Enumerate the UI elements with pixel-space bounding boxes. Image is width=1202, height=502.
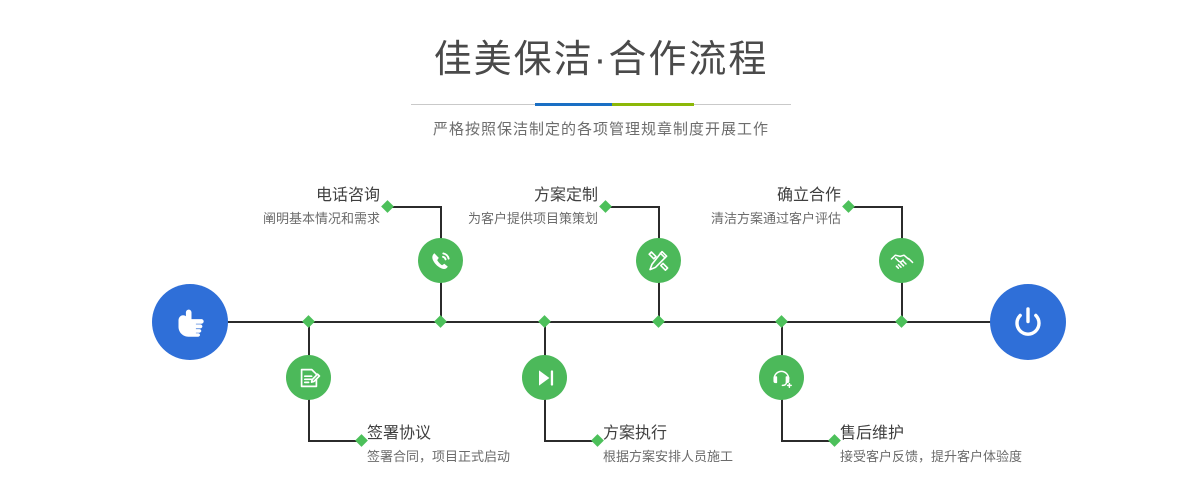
connector-horizontal-step-3 — [606, 206, 659, 208]
step-title-3: 方案定制 — [420, 186, 598, 206]
handshake-icon — [888, 247, 916, 275]
step-desc-6: 接受客户反馈，提升客户体验度 — [840, 447, 1140, 467]
phone-call-icon — [427, 247, 455, 275]
connector-horizontal-step-5 — [849, 206, 902, 208]
header: 佳美保洁·合作流程 严格按照保洁制定的各项管理规章制度开展工作 — [0, 0, 1202, 140]
step-title-1: 电话咨询 — [200, 186, 380, 206]
label-diamond-step-3 — [599, 200, 612, 213]
axis-diamond-step-3 — [652, 315, 665, 328]
connector-horizontal-step-6 — [781, 440, 834, 442]
axis-diamond-step-1 — [434, 315, 447, 328]
step-desc-2: 签署合同，项目正式启动 — [367, 447, 627, 467]
divider-segment-green — [612, 103, 694, 106]
axis-diamond-step-5 — [895, 315, 908, 328]
step-icon-4 — [522, 355, 567, 400]
step-icon-1 — [418, 238, 463, 283]
document-edit-icon — [295, 364, 323, 392]
pointing-hand-icon — [168, 300, 212, 344]
step-label-4: 方案执行 根据方案安排人员施工 — [603, 424, 863, 467]
step-label-1: 电话咨询 阐明基本情况和需求 — [200, 186, 380, 229]
step-icon-5 — [879, 238, 924, 283]
step-desc-4: 根据方案安排人员施工 — [603, 447, 863, 467]
step-label-5: 确立合作 清洁方案通过客户评估 — [663, 186, 841, 229]
step-icon-6 — [759, 355, 804, 400]
axis-diamond-step-2 — [302, 315, 315, 328]
label-diamond-step-1 — [381, 200, 394, 213]
step-desc-3: 为客户提供项目策策划 — [420, 209, 598, 229]
connector-horizontal-step-4 — [544, 440, 597, 442]
process-flow-diagram: 佳美保洁·合作流程 严格按照保洁制定的各项管理规章制度开展工作 — [0, 0, 1202, 502]
step-label-2: 签署协议 签署合同，项目正式启动 — [367, 424, 627, 467]
connector-horizontal-step-2 — [308, 440, 361, 442]
step-label-6: 售后维护 接受客户反馈，提升客户体验度 — [840, 424, 1140, 467]
power-icon — [1006, 300, 1050, 344]
label-diamond-step-2 — [355, 434, 368, 447]
timeline-start-endpoint — [152, 284, 228, 360]
timeline-end-endpoint — [990, 284, 1066, 360]
axis-diamond-step-6 — [775, 315, 788, 328]
step-title-5: 确立合作 — [663, 186, 841, 206]
step-label-3: 方案定制 为客户提供项目策策划 — [420, 186, 598, 229]
page-subtitle: 严格按照保洁制定的各项管理规章制度开展工作 — [0, 110, 1202, 140]
title-divider — [411, 100, 791, 110]
play-execute-icon — [531, 364, 559, 392]
label-diamond-step-5 — [842, 200, 855, 213]
step-icon-3 — [636, 238, 681, 283]
divider-segment-blue — [535, 103, 612, 106]
page-title: 佳美保洁·合作流程 — [0, 0, 1202, 82]
connector-horizontal-step-1 — [388, 206, 441, 208]
step-desc-5: 清洁方案通过客户评估 — [663, 209, 841, 229]
step-icon-2 — [286, 355, 331, 400]
axis-diamond-step-4 — [538, 315, 551, 328]
step-desc-1: 阐明基本情况和需求 — [200, 209, 380, 229]
customer-service-icon — [768, 364, 796, 392]
step-title-6: 售后维护 — [840, 424, 1140, 444]
pencil-ruler-icon — [645, 247, 673, 275]
